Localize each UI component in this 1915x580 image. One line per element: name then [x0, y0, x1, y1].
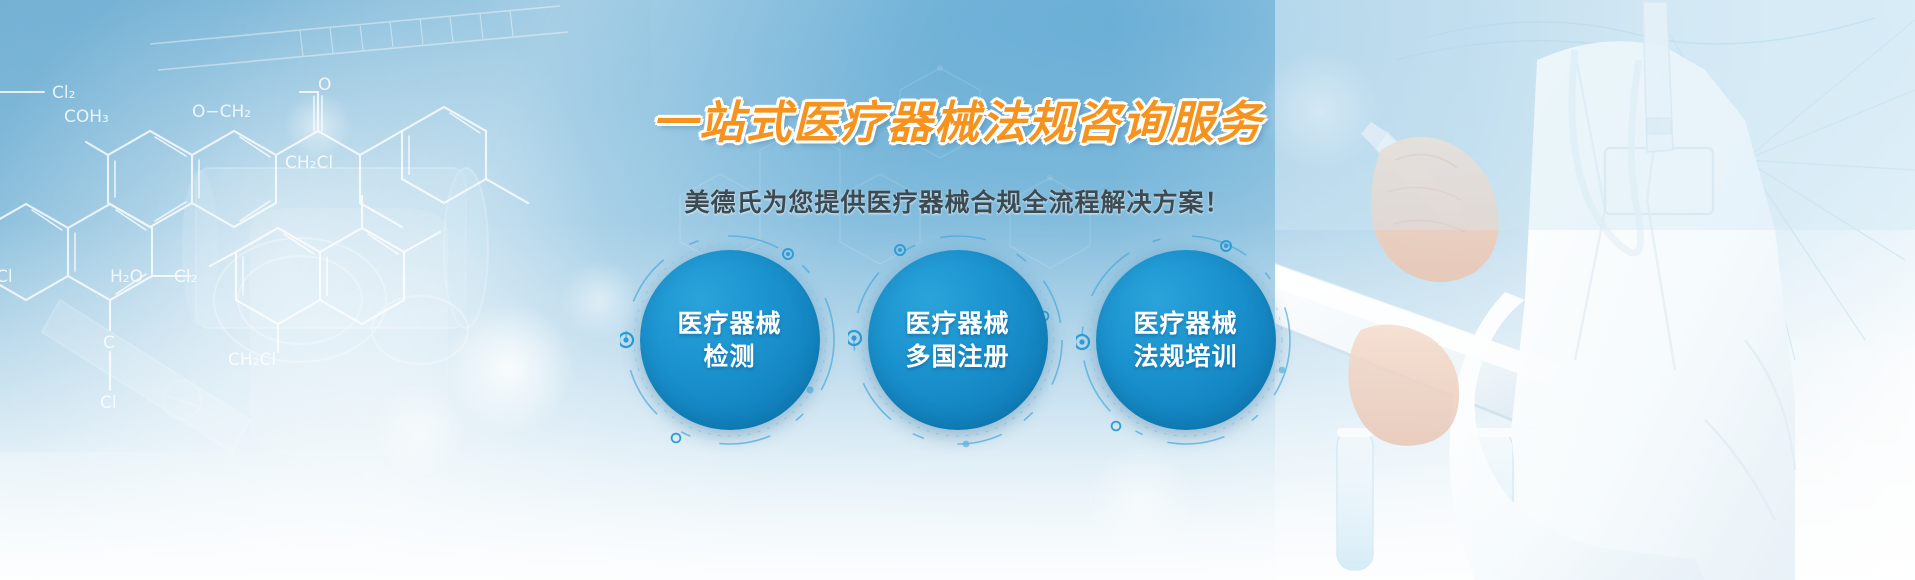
page-subtitle: 美德氏为您提供医疗器械合规全流程解决方案！: [684, 183, 1230, 219]
service-label-line1: 医疗器械: [905, 310, 1009, 337]
service-circle-unit-3: 医疗器械 法规培训: [1096, 250, 1276, 430]
hero-banner: Cl₂ COH₃ O−CH₂ H₂O Cl₂ CH₂Cl CH₂Cl Cl C …: [0, 0, 1915, 580]
service-label-line2: 检测: [703, 343, 755, 370]
service-label-line2: 多国注册: [905, 343, 1009, 370]
service-label-line2: 法规培训: [1133, 343, 1237, 370]
service-circle-registration[interactable]: 医疗器械 多国注册: [868, 250, 1048, 430]
subheadline-container: 美德氏为您提供医疗器械合规全流程解决方案！: [0, 183, 1915, 219]
service-label-line1: 医疗器械: [1133, 310, 1237, 337]
page-title: 一站式医疗器械法规咨询服务: [652, 86, 1263, 151]
service-label-line1: 医疗器械: [677, 310, 781, 337]
service-circle-unit-1: 医疗器械 检测: [640, 250, 820, 430]
service-circles-group: 医疗器械 检测 医疗器械 多国注册: [0, 250, 1915, 430]
service-circle-training[interactable]: 医疗器械 法规培训: [1096, 250, 1276, 430]
service-circle-unit-2: 医疗器械 多国注册: [868, 250, 1048, 430]
service-circle-testing[interactable]: 医疗器械 检测: [640, 250, 820, 430]
headline-container: 一站式医疗器械法规咨询服务: [0, 86, 1915, 151]
